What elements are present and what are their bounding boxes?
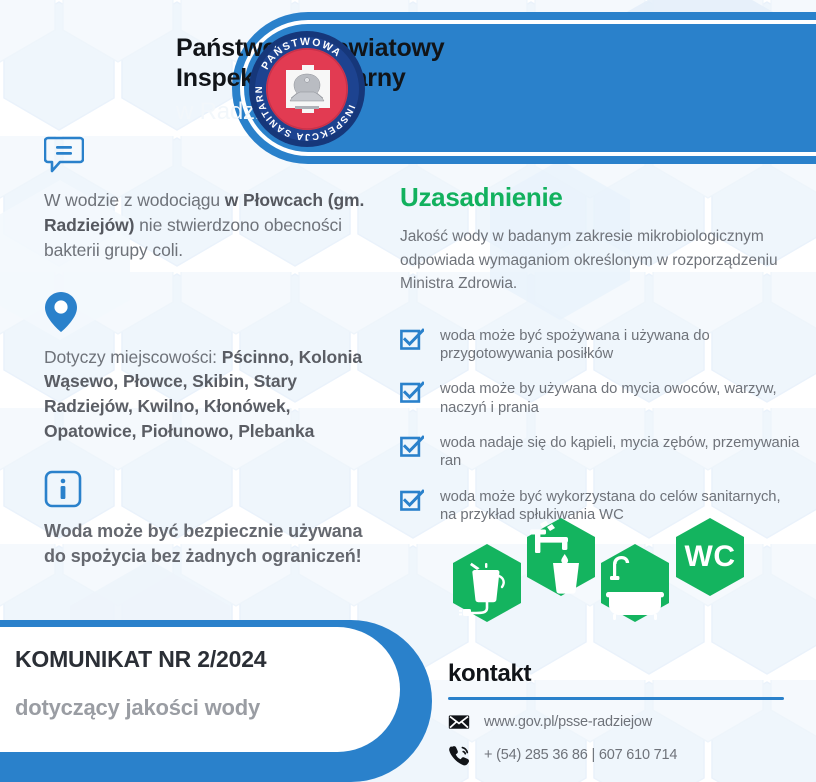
checked-checkbox-icon [400,488,424,512]
list-item: woda nadaje się do kąpieli, mycia zębów,… [400,433,800,471]
polish-eagle-emblem-seal: PAŃSTWOWA INSPEKCJA SANITARNA [248,30,366,148]
communique-subject: dotyczący jakości wody [15,695,365,721]
justification-title: Uzasadnienie [400,182,800,213]
list-item-label: woda może by używana do mycia owoców, wa… [440,379,800,417]
water-notice-paragraph: W wodzie z wodociągu w Płowcach (gm. Rad… [44,188,374,263]
pin-icon-wrap [44,291,374,333]
left-column: W wodzie z wodociągu w Płowcach (gm. Rad… [44,136,374,569]
header-title-line2: Inspektor Sanitarny [176,64,596,94]
info-icon-wrap [44,470,374,508]
information-icon [44,470,82,508]
communique-banner: KOMUNIKAT NR 2/2024 dotyczący jakości wo… [0,620,432,782]
envelope-icon [448,711,470,733]
bathtub-icon [601,544,669,622]
electric-kettle-icon [453,544,521,622]
banner-text-group: KOMUNIKAT NR 2/2024 dotyczący jakości wo… [15,646,365,721]
speech-bubble-icon [44,136,84,174]
contact-phone[interactable]: + (54) 285 36 86 | 607 610 714 [484,747,677,763]
water-use-hexagon-icons: WC [443,508,773,640]
checked-checkbox-icon [400,434,424,458]
communique-number: KOMUNIKAT NR 2/2024 [15,646,365,673]
right-column: Uzasadnienie Jakość wody w badanym zakre… [400,182,800,540]
checked-checkbox-icon [400,380,424,404]
allowed-uses-list: woda może być spożywana i używana do prz… [400,326,800,525]
header-subtitle: w Radziejowie [176,98,596,127]
contact-section: kontakt www.gov.pl/psse-radziejow + (54)… [448,660,798,766]
map-pin-icon [44,291,78,333]
header-title-line1: Państwowy Powiatowy [176,34,596,64]
header-text-group: Państwowy Powiatowy Inspektor Sanitarny … [176,34,596,127]
list-item-label: woda może być spożywana i używana do prz… [440,326,800,364]
list-item-label: woda nadaje się do kąpieli, mycia zębów,… [440,433,800,471]
phone-icon [448,744,470,766]
localities-lead: Dotyczy miejscowości: [44,347,222,367]
checked-checkbox-icon [400,327,424,351]
contact-website[interactable]: www.gov.pl/psse-radziejow [484,714,652,730]
infographic-page: PAŃSTWOWA INSPEKCJA SANITARNA Państwowy … [0,0,816,782]
localities-paragraph: Dotyczy miejscowości: Pścinno, Kolonia W… [44,345,374,444]
contact-phone-row[interactable]: + (54) 285 36 86 | 607 610 714 [448,744,798,766]
faucet-and-glass-icon [527,518,595,596]
list-item: woda może być spożywana i używana do prz… [400,326,800,364]
contact-divider [448,697,784,700]
wc-label: WC [685,540,736,573]
contact-title: kontakt [448,660,798,688]
safe-water-statement: Woda może być bezpiecznie używana do spo… [44,519,374,569]
notice-lead: W wodzie z wodociągu [44,190,225,210]
contact-website-row[interactable]: www.gov.pl/psse-radziejow [448,711,798,733]
list-item: woda może by używana do mycia owoców, wa… [400,379,800,417]
justification-body: Jakość wody w badanym zakresie mikrobiol… [400,225,800,296]
wc-toilet-icon: WC [676,518,744,596]
